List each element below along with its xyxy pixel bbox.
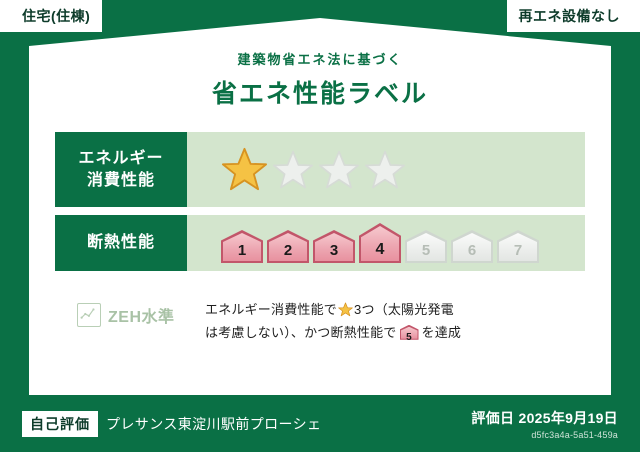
zeh-label: ZEH水準 — [108, 303, 175, 327]
building-type-tag: 住宅(住棟) — [0, 0, 102, 32]
zeh-standard-block: ZEH水準 — [55, 297, 205, 327]
desc-line1-b: （太陽光発電 — [375, 302, 454, 317]
energy-label-line2: 消費性能 — [87, 170, 155, 192]
title-block: 建築物省エネ法に基づく 省エネ性能ラベル — [32, 21, 608, 110]
star-empty-icon — [364, 150, 406, 190]
page-title: 省エネ性能ラベル — [32, 74, 608, 110]
desc-star-count: 3つ — [354, 302, 375, 317]
insulation-level-badge: 2 — [267, 230, 309, 263]
insulation-level-number: 6 — [468, 242, 476, 259]
insulation-level-badge: 5 — [405, 230, 447, 263]
insulation-level-number: 5 — [422, 242, 430, 259]
insulation-level-number: 1 — [238, 242, 246, 259]
insulation-label-text: 断熱性能 — [87, 232, 155, 254]
insulation-level-badge: 7 — [497, 230, 539, 263]
star-empty-icon — [272, 150, 314, 190]
energy-star-rating — [187, 132, 585, 207]
zeh-chart-icon — [77, 303, 101, 327]
footer-bar: 自己評価 プレサンス東淀川駅前プローシェ 評価日 2025年9月19日 d5fc… — [0, 396, 640, 452]
zeh-note-section: ZEH水準 エネルギー消費性能で3つ（太陽光発電 は考慮しない）、かつ断熱性能で… — [55, 297, 585, 345]
achievement-description: エネルギー消費性能で3つ（太陽光発電 は考慮しない）、かつ断熱性能で5を達成 — [205, 297, 585, 345]
evaluation-date: 評価日 2025年9月19日 — [471, 408, 618, 428]
metric-rows: エネルギー 消費性能 — [55, 132, 585, 271]
insulation-level-number: 3 — [330, 242, 338, 259]
zeh-chart-glyph — [78, 304, 98, 324]
insulation-level-number: 7 — [514, 242, 522, 259]
evaluation-info: 評価日 2025年9月19日 d5fc3a4a-5a51-459a — [471, 408, 618, 440]
evaluation-date-label: 評価日 — [471, 410, 514, 426]
energy-performance-row: エネルギー 消費性能 — [55, 132, 585, 207]
star-filled-icon — [338, 302, 353, 317]
evaluation-id: d5fc3a4a-5a51-459a — [471, 430, 618, 440]
insulation-performance-label: 断熱性能 — [55, 215, 187, 271]
insulation-level-badge: 6 — [451, 230, 493, 263]
desc-line1-a: エネルギー消費性能で — [205, 302, 337, 317]
renewable-energy-tag: 再エネ設備なし — [507, 0, 640, 32]
insulation-level-badge: 3 — [313, 230, 355, 263]
label-content: 建築物省エネ法に基づく 省エネ性能ラベル エネルギー 消費性能 — [32, 21, 608, 392]
desc-line2-a: は考慮しない）、かつ断熱性能で — [205, 325, 397, 340]
inline-insulation-badge: 5 — [400, 325, 419, 340]
desc-line2-b: を達成 — [422, 325, 462, 340]
insulation-level-badge: 1 — [221, 230, 263, 263]
insulation-badges: 1 2 3 — [221, 223, 539, 263]
insulation-level-number: 2 — [284, 242, 292, 259]
star-empty-icon — [318, 150, 360, 190]
title-subtitle: 建築物省エネ法に基づく — [32, 49, 608, 68]
self-evaluation-badge: 自己評価 — [22, 411, 98, 437]
insulation-level-badge-active: 4 — [359, 223, 401, 263]
insulation-level-scale: 1 2 3 — [187, 215, 585, 271]
energy-label-root: 住宅(住棟) 再エネ設備なし 建築物省エネ法に基づく 省エネ性能ラベル エネルギ… — [0, 0, 640, 452]
star-filled-icon — [221, 147, 268, 192]
evaluation-date-value: 2025年9月19日 — [518, 410, 618, 426]
energy-performance-label: エネルギー 消費性能 — [55, 132, 187, 207]
insulation-level-number: 4 — [376, 241, 385, 259]
inline-badge-number: 5 — [406, 332, 412, 343]
building-name: プレサンス東淀川駅前プローシェ — [106, 414, 321, 434]
energy-label-line1: エネルギー — [78, 148, 163, 170]
insulation-performance-row: 断熱性能 1 2 — [55, 215, 585, 271]
